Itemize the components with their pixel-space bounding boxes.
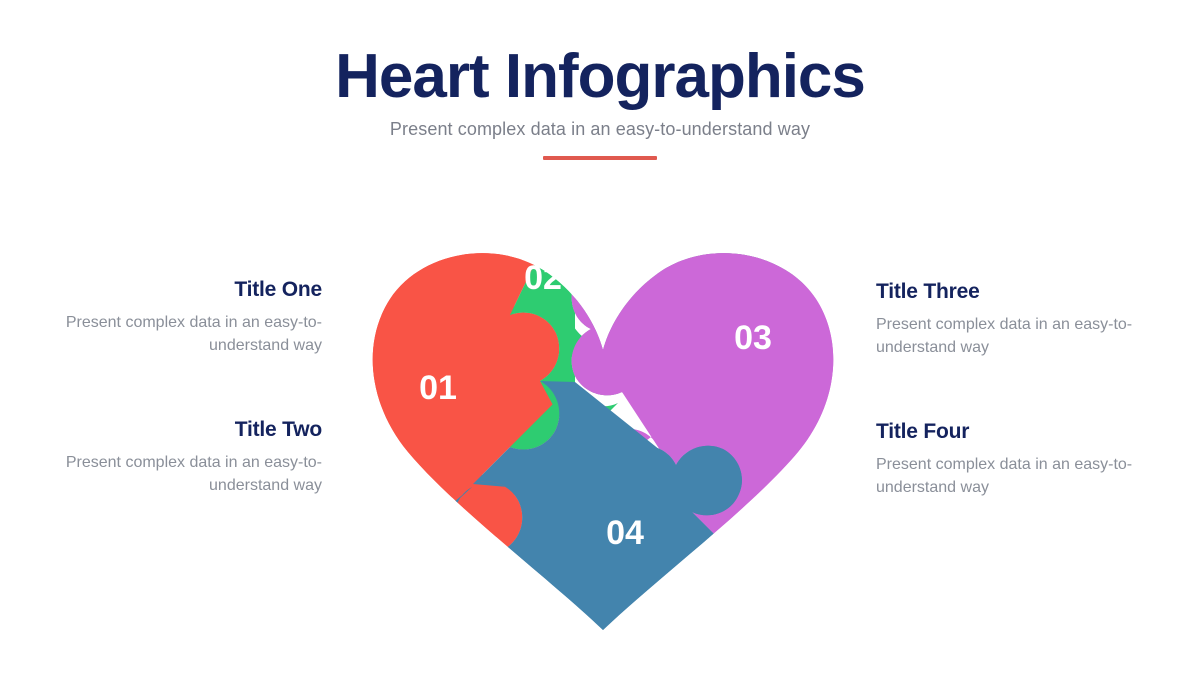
label-block-one[interactable]: Title One Present complex data in an eas…: [62, 278, 322, 357]
page-subtitle: Present complex data in an easy-to-under…: [0, 119, 1200, 140]
block-description-two: Present complex data in an easy-to-under…: [62, 452, 322, 497]
header: Heart Infographics Present complex data …: [0, 44, 1200, 160]
accent-divider: [543, 156, 657, 160]
block-description-one: Present complex data in an easy-to-under…: [62, 312, 322, 357]
label-block-three[interactable]: Title Three Present complex data in an e…: [876, 280, 1136, 359]
block-title-two: Title Two: [62, 418, 322, 442]
block-title-four: Title Four: [876, 420, 1136, 444]
slide-root: Heart Infographics Present complex data …: [0, 0, 1200, 675]
heart-puzzle-svg: 01 02 03 04: [360, 190, 850, 640]
page-title: Heart Infographics: [0, 44, 1200, 109]
block-title-three: Title Three: [876, 280, 1136, 304]
block-description-four: Present complex data in an easy-to-under…: [876, 454, 1136, 499]
heart-puzzle-diagram: 01 02 03 04: [360, 190, 850, 640]
block-description-three: Present complex data in an easy-to-under…: [876, 314, 1136, 359]
label-block-two[interactable]: Title Two Present complex data in an eas…: [62, 418, 322, 497]
block-title-one: Title One: [62, 278, 322, 302]
piece-number-01: 01: [419, 369, 457, 407]
piece-number-03: 03: [734, 319, 772, 357]
piece-number-02: 02: [524, 259, 562, 297]
piece-number-04: 04: [606, 514, 644, 552]
label-block-four[interactable]: Title Four Present complex data in an ea…: [876, 420, 1136, 499]
